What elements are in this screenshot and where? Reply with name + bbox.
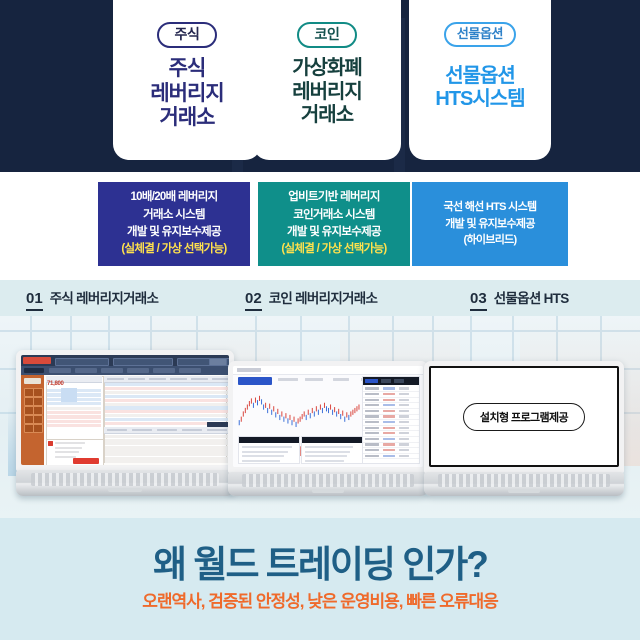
cx-ticker-stat [333,378,349,381]
hts-grid-row [105,383,229,386]
laptop-coin-screen[interactable] [233,366,423,467]
feature-stock-line-3: 개발 및 유지보수제공 [127,224,221,241]
hts-order-tag [48,441,53,446]
feature-coin-line-3: 개발 및 유지보수제공 [287,224,381,241]
hts-column-header [170,378,187,380]
feature-futures-line-3: (하이브리드) [463,232,516,249]
cx-book-name [365,393,379,395]
laptop-stock-base [16,470,234,496]
cx-history-row [305,451,350,453]
hts-sidebar-button [33,388,43,397]
hero-pill-coin: 코인 [297,22,358,48]
hero-title-futures: 선물옵션 HTS시스템 [435,65,524,111]
cx-book-amount [399,438,409,440]
hts-grid-row [105,399,229,402]
cx-book-price [383,387,395,389]
hts-toolbar-group [55,358,109,366]
cx-book-amount [399,393,409,395]
cx-trade-field [242,460,280,462]
cx-history-row [305,460,344,462]
hero-title-coin: 가상화폐 레버리지 거래소 [292,57,362,127]
hts-column-header [107,378,124,380]
hts-sidebar-button [33,406,43,415]
hts-quote-row [47,407,101,410]
cx-book-amount [399,443,409,445]
laptop-stock-trackpad [108,488,143,492]
feature-futures-line-2: 개발 및 유지보수제공 [445,216,535,233]
section-label-02-number: 02 [245,291,262,311]
cx-book-price [383,393,395,395]
cx-trade-panel-header [239,437,299,443]
hts-tab [153,368,175,373]
cx-book-amount [399,432,409,434]
cx-history-panel [301,436,363,464]
laptop-futures-base [424,472,624,496]
section-label-strip: 01 주식 레버리지거래소 02 코인 레버리지거래소 03 선물옵션 HTS [0,280,640,316]
hero-title-coin-line-2: 레버리지 [292,81,362,104]
feature-box-stock[interactable]: 10배/20배 레버리지 거래소 시스템 개발 및 유지보수제공 (실체결 / … [98,182,250,266]
hero-title-futures-line-1: 선물옵션 [435,65,524,88]
hts-sidebar-button [33,424,43,433]
hero-title-stock-line-1: 주식 [150,57,223,81]
laptop-stock-lid: 71,800 [16,350,234,471]
install-program-pill: 설치형 프로그램제공 [463,403,585,431]
hero-title-coin-line-3: 거래소 [292,104,362,127]
cx-book-price [383,404,395,406]
cx-book-tab [394,379,404,384]
laptop-coin-lid [228,361,428,473]
hts-highlight-cell [61,388,77,402]
bottom-title: 왜 월드 트레이딩 인가? [153,546,487,583]
hts-active-tab [24,368,44,373]
hts-lower-column [107,429,127,431]
hts-sidebar-button [33,397,43,406]
cx-book-tab-active [365,379,378,384]
cx-book-price [383,410,395,412]
laptop-showcase: 71,800 [0,316,640,518]
hero-pill-futures: 선물옵션 [444,22,516,47]
bottom-banner: 왜 월드 트레이딩 인가? 오랜역사, 검증된 안정성, 낮은 운영비용, 빠른… [0,518,640,640]
cx-book-price [383,427,395,429]
cx-book-name [365,427,379,429]
hts-lower-row [105,460,229,463]
laptop-stock-keyboard [31,473,219,487]
hero-title-stock: 주식 레버리지 거래소 [150,57,223,130]
feature-box-row: 10배/20배 레버리지 거래소 시스템 개발 및 유지보수제공 (실체결 / … [0,172,640,280]
hero-title-stock-line-3: 거래소 [150,106,223,130]
hts-toolbar-icon [209,358,227,366]
cx-logo [237,368,261,372]
cx-book-amount [399,404,409,406]
hts-grid-row [105,406,229,409]
hts-sidebar-search [24,378,41,384]
hts-lower-column [182,429,202,431]
cx-trade-panel [238,436,300,464]
hts-column-header [191,378,208,380]
hts-tab [49,368,71,373]
hts-tab [101,368,123,373]
cx-book-name [365,410,379,412]
hts-form-field [55,447,82,449]
cx-book-tab [381,379,391,384]
feature-stock-line-2: 거래소 시스템 [143,207,205,224]
cx-book-name [365,421,379,423]
cx-book-name [365,438,379,440]
cx-trade-field [242,455,284,457]
feature-stock-accent: (실체결 / 가상 선택가능) [121,241,226,258]
section-label-01: 01 주식 레버리지거래소 [26,287,158,311]
hts-column-header [128,378,145,380]
hts-lower-column [132,429,152,431]
hero-title-futures-line-2: HTS시스템 [435,88,524,111]
cx-book-amount [399,387,409,389]
laptop-futures-lid: 설치형 프로그램제공 [424,361,624,473]
cx-book-price [383,443,395,445]
hts-tab [75,368,97,373]
section-label-03-text: 선물옵션 HTS [494,287,569,307]
cx-book-amount [399,415,409,417]
hts-buy-button [73,458,99,464]
cx-book-name [365,455,379,457]
hts-quote-row [47,415,101,418]
laptop-coin-trackpad [312,489,344,493]
cx-book-name [365,404,379,406]
cx-book-price [383,449,395,451]
cx-book-price [383,432,395,434]
hts-grid-row [105,387,229,390]
hero-section: 주식 주식 레버리지 거래소 코인 가상화폐 레버리지 거래소 선물옵션 선물 [0,0,640,172]
hts-column-header [212,378,229,380]
feature-box-coin[interactable]: 업비트기반 레버리지 코인거래소 시스템 개발 및 유지보수제공 (실체결 / … [258,182,410,266]
cx-history-row [305,446,353,448]
hts-quote-row [47,411,101,414]
laptop-coin-keyboard [242,474,414,486]
hts-action-button [207,422,229,427]
cx-trade-field [242,446,292,448]
feature-coin-line-1: 업비트기반 레버리지 [288,189,379,206]
bottom-subtitle: 오랜역사, 검증된 안정성, 낮은 운영비용, 빠른 오류대응 [142,587,498,612]
section-label-01-number: 01 [26,291,43,311]
promo-page: 주식 주식 레버리지 거래소 코인 가상화폐 레버리지 거래소 선물옵션 선물 [0,0,640,640]
hero-pill-stock: 주식 [157,22,218,48]
cx-book-name [365,449,379,451]
hts-tab [127,368,149,373]
feature-coin-accent: (실체결 / 가상 선택가능) [281,241,386,258]
cx-history-row [305,455,347,457]
laptop-futures-trackpad [508,489,540,493]
hts-grid-row [105,403,229,406]
hts-menu-button [23,357,51,364]
hts-grid-row [105,391,229,394]
stock-hts-ui: 71,800 [21,355,229,465]
laptop-stock-hts[interactable]: 71,800 [16,350,234,496]
hts-quote-row [47,402,101,405]
hts-lower-column [157,429,177,431]
feature-box-futures[interactable]: 국선 해선 HTS 시스템 개발 및 유지보수제공 (하이브리드) [412,182,568,266]
cx-book-amount [399,449,409,451]
hero-title-stock-line-2: 레버리지 [150,82,223,106]
hts-sidebar-button [33,415,43,424]
hero-card-row: 주식 주식 레버리지 거래소 코인 가상화폐 레버리지 거래소 선물옵션 선물 [0,0,640,172]
section-label-03: 03 선물옵션 HTS [470,287,569,311]
hts-quote-row [47,420,101,423]
cx-pair-badge [238,377,272,385]
candlestick-series [238,388,361,440]
feature-stock-line-1: 10배/20배 레버리지 [130,189,217,206]
cx-book-amount [399,427,409,429]
coin-exchange-ui [233,366,423,467]
cx-book-price [383,438,395,440]
laptop-stock-screen[interactable]: 71,800 [21,355,229,465]
laptop-coin-exchange[interactable] [228,361,428,496]
feature-futures-line-1: 국선 해선 HTS 시스템 [444,199,537,216]
cx-history-panel-header [302,437,362,443]
cx-book-name [365,399,379,401]
section-label-02-text: 코인 레버리지거래소 [269,287,378,307]
hts-grid-row [105,418,229,421]
laptop-futures-hts[interactable]: 설치형 프로그램제공 [424,361,624,496]
futures-hts-ui: 설치형 프로그램제공 [429,366,619,467]
hts-grid-row [105,414,229,417]
hts-toolbar-group [113,358,173,366]
cx-book-price [383,455,395,457]
cx-book-name [365,432,379,434]
cx-header [233,366,423,375]
cx-ticker-stat [305,378,323,381]
cx-trade-field [242,451,288,453]
cx-book-price [383,399,395,401]
hero-card-coin[interactable]: 코인 가상화폐 레버리지 거래소 [253,0,401,160]
laptop-coin-base [228,472,428,496]
hero-card-futures[interactable]: 선물옵션 선물옵션 HTS시스템 [409,0,551,160]
hts-grid-row [105,410,229,413]
cx-book-name [365,443,379,445]
hts-column-header [149,378,166,380]
laptop-futures-keyboard [438,474,610,486]
cx-book-amount [399,421,409,423]
cx-book-name [365,387,379,389]
section-label-01-text: 주식 레버리지거래소 [50,287,159,307]
hts-grid-row [105,395,229,398]
cx-ticker-stat [278,378,298,381]
cx-book-amount [399,410,409,412]
laptop-futures-screen[interactable]: 설치형 프로그램제공 [429,366,619,467]
hero-card-stock[interactable]: 주식 주식 레버리지 거래소 [113,0,261,160]
cx-book-amount [399,455,409,457]
cx-price-chart [238,388,361,440]
cx-book-price [383,415,395,417]
cx-book-row [363,453,419,459]
hts-quote-row [47,424,101,427]
feature-coin-line-2: 코인거래소 시스템 [293,207,375,224]
section-label-03-number: 03 [470,291,487,311]
section-label-02: 02 코인 레버리지거래소 [245,287,377,311]
cx-book-price [383,421,395,423]
cx-book-name [365,415,379,417]
cx-book-amount [399,399,409,401]
hero-title-coin-line-1: 가상화폐 [292,57,362,80]
hts-price-value: 71,800 [47,381,64,387]
cx-order-book [362,376,420,464]
hts-lower-column [207,429,227,431]
hts-tab [179,368,201,373]
